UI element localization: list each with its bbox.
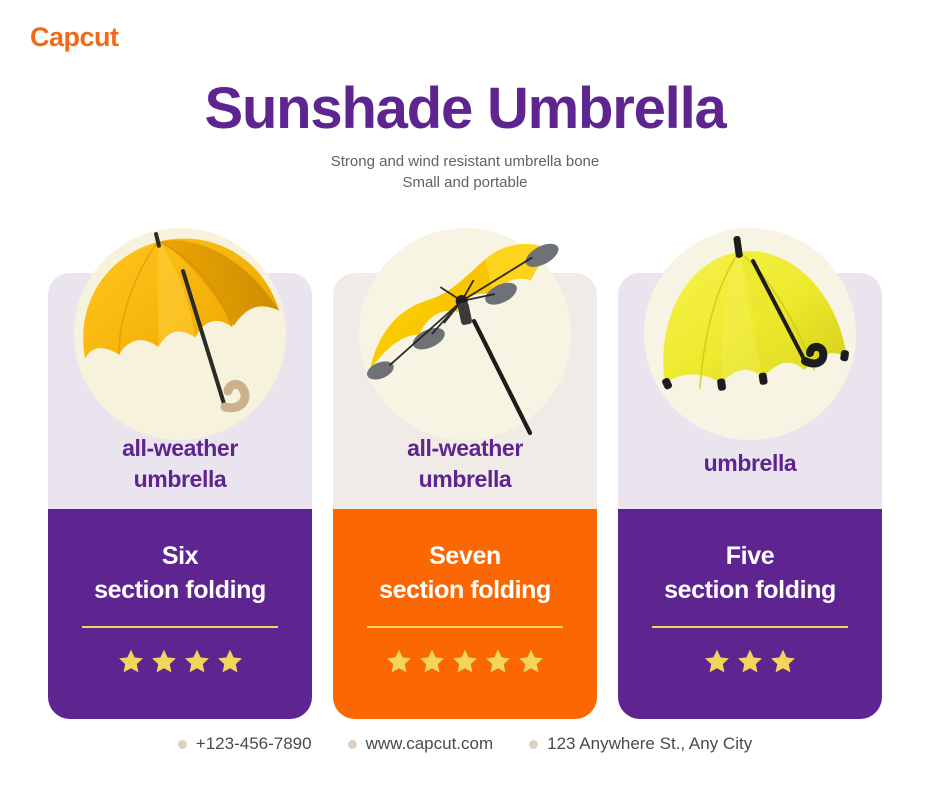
subtitle-line-1: Strong and wind resistant umbrella bone (0, 151, 930, 172)
footer-phone: +123-456-7890 (178, 734, 312, 754)
subtitle-line-2: Small and portable (0, 172, 930, 193)
card-detail-area: Six section folding (48, 509, 312, 719)
card-label: all-weather umbrella (48, 433, 312, 495)
card-label: umbrella (618, 448, 882, 479)
star-icon (184, 648, 210, 674)
bullet-dot-icon (178, 740, 187, 749)
star-icon (737, 648, 763, 674)
brand-logo: Capcut (30, 22, 119, 53)
card-divider (652, 626, 848, 628)
star-icon (151, 648, 177, 674)
footer-address: 123 Anywhere St., Any City (529, 734, 752, 754)
card-rating-stars (118, 648, 243, 674)
footer-phone-text: +123-456-7890 (196, 734, 312, 754)
star-icon (485, 648, 511, 674)
card-folding-title: Seven section folding (379, 539, 551, 607)
card-folding-title: Six section folding (94, 539, 266, 607)
card-label: all-weather umbrella (333, 433, 597, 495)
page-title: Sunshade Umbrella (0, 78, 930, 140)
star-icon (419, 648, 445, 674)
product-card[interactable]: umbrella Five section folding (618, 273, 882, 719)
card-divider (82, 626, 278, 628)
card-folding-title: Five section folding (664, 539, 836, 607)
star-icon (386, 648, 412, 674)
star-icon (770, 648, 796, 674)
footer-website-text: www.capcut.com (366, 734, 494, 754)
yellow-umbrella-wavy-vented-icon (350, 221, 580, 449)
footer-contact-bar: +123-456-7890 www.capcut.com 123 Anywher… (0, 734, 930, 754)
bright-yellow-umbrella-dome-icon (635, 221, 865, 449)
card-rating-stars (704, 648, 796, 674)
star-icon (704, 648, 730, 674)
gold-umbrella-open-tilted-icon (65, 221, 295, 449)
bullet-dot-icon (348, 740, 357, 749)
page-header: Sunshade Umbrella Strong and wind resist… (0, 78, 930, 193)
card-image-area: umbrella (618, 273, 882, 509)
card-image-area: all-weather umbrella (48, 273, 312, 509)
card-detail-area: Seven section folding (333, 509, 597, 719)
bullet-dot-icon (529, 740, 538, 749)
page-subtitle: Strong and wind resistant umbrella bone … (0, 151, 930, 193)
footer-website[interactable]: www.capcut.com (348, 734, 494, 754)
star-icon (452, 648, 478, 674)
star-icon (518, 648, 544, 674)
card-image-area: all-weather umbrella (333, 273, 597, 509)
product-card[interactable]: all-weather umbrella Six section folding (48, 273, 312, 719)
product-card[interactable]: all-weather umbrella Seven section foldi… (333, 273, 597, 719)
star-icon (118, 648, 144, 674)
star-icon (217, 648, 243, 674)
card-divider (367, 626, 563, 628)
footer-address-text: 123 Anywhere St., Any City (547, 734, 752, 754)
product-card-list: all-weather umbrella Six section folding (48, 273, 882, 719)
card-detail-area: Five section folding (618, 509, 882, 719)
card-rating-stars (386, 648, 544, 674)
